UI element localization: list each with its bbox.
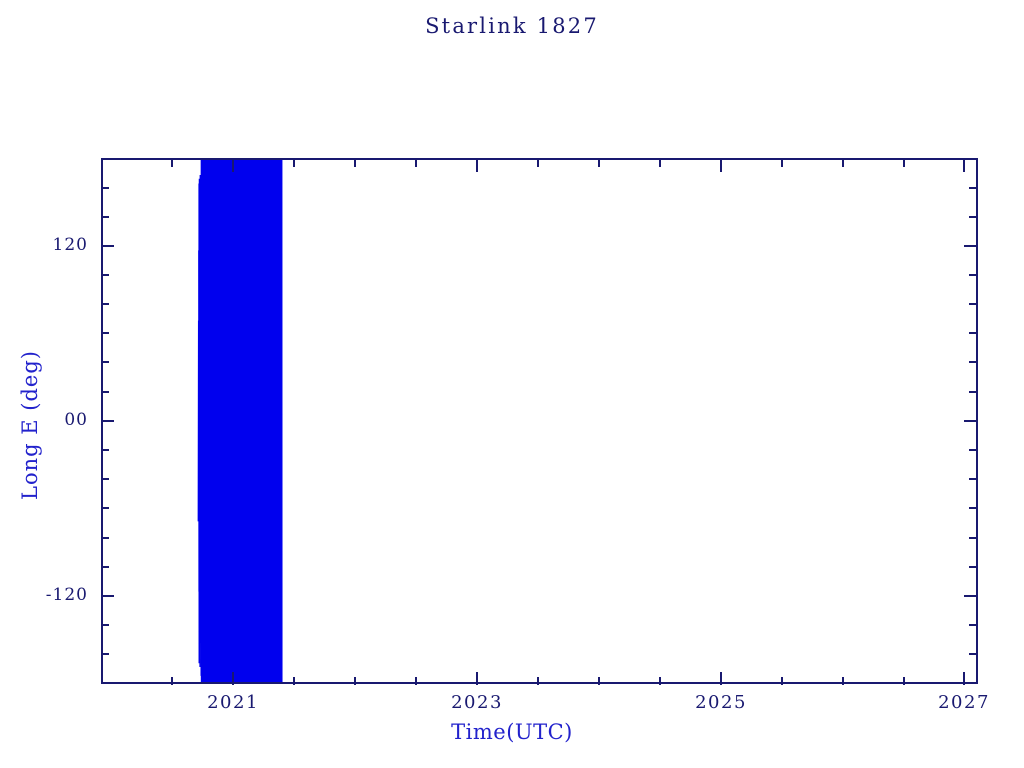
y-tick-label: 120 <box>2 235 88 255</box>
x-tick-major <box>232 672 234 685</box>
y-tick-major-right <box>964 420 977 422</box>
y-tick-minor-right <box>969 478 977 480</box>
x-tick-minor-top <box>781 159 783 167</box>
x-tick-major <box>476 672 478 685</box>
x-tick-label: 2023 <box>417 692 537 713</box>
x-tick-minor-top <box>537 159 539 167</box>
x-tick-major-top <box>720 159 722 172</box>
x-tick-minor-top <box>415 159 417 167</box>
y-tick-minor <box>101 391 109 393</box>
x-tick-minor-top <box>842 159 844 167</box>
x-tick-major-top <box>963 159 965 172</box>
x-tick-major <box>963 672 965 685</box>
x-tick-minor-top <box>354 159 356 167</box>
y-tick-minor-right <box>969 303 977 305</box>
y-tick-minor <box>101 537 109 539</box>
y-tick-major-right <box>964 595 977 597</box>
y-tick-minor-right <box>969 653 977 655</box>
y-axis-title: Long E (deg) <box>18 195 42 655</box>
y-tick-minor <box>101 624 109 626</box>
x-axis-title: Time(UTC) <box>0 720 1024 744</box>
y-tick-minor <box>101 303 109 305</box>
y-tick-label: -120 <box>2 585 88 605</box>
x-axis-ticks <box>0 671 1024 685</box>
y-tick-minor <box>101 653 109 655</box>
y-tick-minor <box>101 332 109 334</box>
x-tick-minor <box>659 677 661 685</box>
x-tick-minor <box>903 677 905 685</box>
y-tick-minor-right <box>969 187 977 189</box>
x-tick-minor <box>598 677 600 685</box>
x-tick-minor-top <box>293 159 295 167</box>
x-tick-minor <box>781 677 783 685</box>
x-tick-minor <box>293 677 295 685</box>
y-tick-minor <box>101 187 109 189</box>
y-tick-major <box>101 595 114 597</box>
x-tick-label: 2025 <box>661 692 781 713</box>
y-tick-minor <box>101 449 109 451</box>
x-tick-major-top <box>476 159 478 172</box>
y-tick-minor <box>101 274 109 276</box>
x-tick-minor <box>537 677 539 685</box>
x-tick-minor <box>842 677 844 685</box>
x-tick-minor-top <box>903 159 905 167</box>
x-tick-label: 2021 <box>173 692 293 713</box>
y-tick-minor-right <box>969 566 977 568</box>
y-tick-label: 00 <box>2 410 88 430</box>
y-tick-minor-right <box>969 274 977 276</box>
x-tick-minor-top <box>659 159 661 167</box>
y-tick-minor <box>101 507 109 509</box>
x-tick-minor <box>415 677 417 685</box>
y-tick-minor-right <box>969 216 977 218</box>
x-tick-minor <box>354 677 356 685</box>
y-tick-minor-right <box>969 537 977 539</box>
y-tick-minor-right <box>969 391 977 393</box>
page-title: Starlink 1827 <box>0 14 1024 38</box>
y-tick-minor <box>101 478 109 480</box>
y-tick-major <box>101 245 114 247</box>
plot-figure: Starlink 1827 <box>0 0 1024 768</box>
y-tick-minor-right <box>969 332 977 334</box>
y-tick-minor <box>101 361 109 363</box>
y-tick-minor <box>101 216 109 218</box>
y-tick-minor-right <box>969 624 977 626</box>
y-tick-minor-right <box>969 507 977 509</box>
y-tick-minor-right <box>969 449 977 451</box>
x-axis-ticks-top <box>0 159 1024 173</box>
y-tick-minor <box>101 566 109 568</box>
x-tick-minor-top <box>171 159 173 167</box>
x-tick-major <box>720 672 722 685</box>
x-tick-minor <box>171 677 173 685</box>
x-tick-label: 2027 <box>904 692 1024 713</box>
x-tick-minor-top <box>598 159 600 167</box>
y-tick-major-right <box>964 245 977 247</box>
axes-frame <box>101 158 978 684</box>
y-tick-major <box>101 420 114 422</box>
y-tick-minor-right <box>969 361 977 363</box>
x-tick-major-top <box>232 159 234 172</box>
